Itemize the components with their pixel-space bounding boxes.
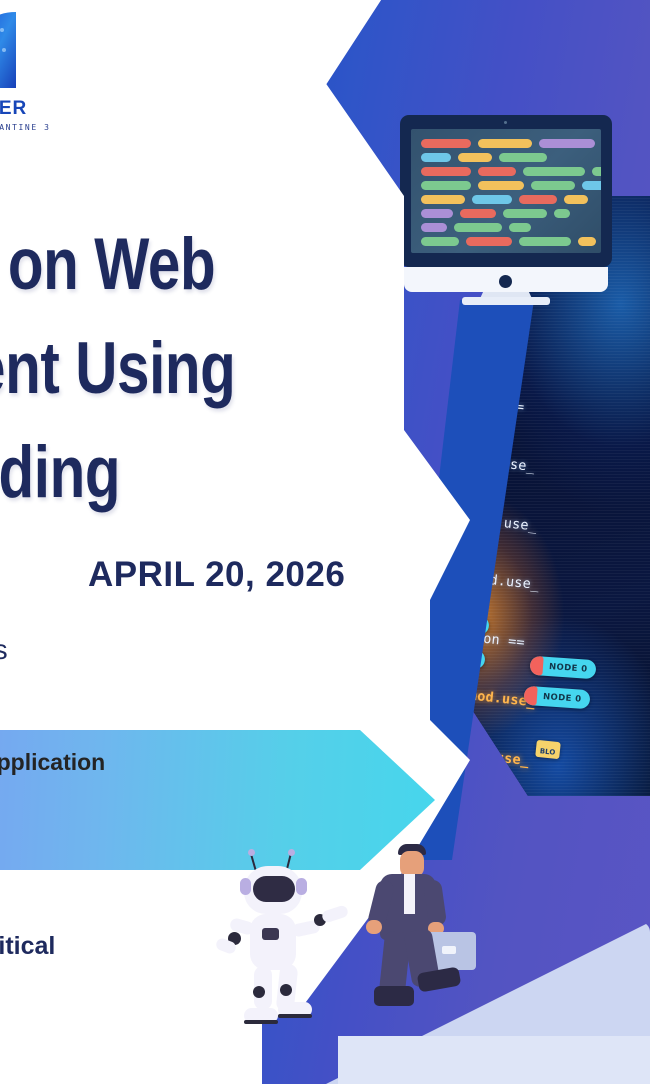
monitor-code-pill xyxy=(503,209,547,218)
poster-canvas: od.use_ mod.use_ _mod.use ration == or_m… xyxy=(0,0,650,1084)
robot-businessman-illustration xyxy=(210,840,650,1084)
profile-head-ai-icon xyxy=(0,8,36,92)
monitor-code-pill xyxy=(519,195,557,204)
businessman-figure xyxy=(360,844,510,1024)
monitor-code-pill xyxy=(499,153,547,162)
monitor-code-pill xyxy=(578,237,596,246)
monitor-code-pill xyxy=(478,167,516,176)
monitor-code-pill xyxy=(460,209,496,218)
monitor-code-pill xyxy=(523,167,585,176)
robot-ear-left xyxy=(240,878,251,895)
monitor-code-pill xyxy=(478,139,532,148)
robot-arm-right-lower xyxy=(321,904,349,923)
robot-antenna-tip-left xyxy=(248,849,255,856)
robot-chest-badge xyxy=(262,928,279,940)
robot-knee-right xyxy=(280,984,292,996)
monitor-code-pill xyxy=(421,209,453,218)
monitor-code-pill xyxy=(421,139,471,148)
ramp-shadow-shape xyxy=(338,1036,650,1084)
headline-line-3: ...Coding xyxy=(0,421,322,525)
monitor-code-pill xyxy=(539,139,595,148)
monitor-code-pill xyxy=(582,181,601,190)
robot-ear-right xyxy=(296,878,307,895)
man-shirt-front xyxy=(404,874,415,914)
monitor-code-pill xyxy=(458,153,492,162)
monitor-camera-dot xyxy=(504,121,507,124)
monitor-code-pill xyxy=(466,237,512,246)
headline-line-2: ...ment Using xyxy=(0,317,322,421)
monitor-code-pill xyxy=(421,195,465,204)
robot-sole-right xyxy=(278,1014,312,1018)
monitor-base xyxy=(462,297,550,305)
monitor-code-pill xyxy=(519,237,571,246)
briefcase-latch xyxy=(442,946,456,954)
monitor-screen xyxy=(411,129,601,253)
man-shoe-left xyxy=(374,986,414,1006)
monitor-code-pill xyxy=(472,195,512,204)
monitor-code-pill xyxy=(554,209,570,218)
robot-antenna-tip-right xyxy=(288,849,295,856)
logo-wordmark: ...ER xyxy=(0,98,82,120)
event-date: APRIL 20, 2026 xyxy=(88,555,345,595)
amber-chip-label: BLO xyxy=(535,744,560,760)
monitor-code-pill xyxy=(564,195,588,204)
robot-face-visor xyxy=(253,876,295,902)
monitor-code-pill xyxy=(478,181,524,190)
monitor-code-pill xyxy=(421,223,447,232)
monitor-code-pill xyxy=(421,167,471,176)
monitor-code-pill xyxy=(421,237,459,246)
amber-chip: BLO xyxy=(535,740,560,759)
banner-line-2: ...I Tools xyxy=(0,782,435,820)
poster-headline: ...op on Web ...ment Using ...Coding xyxy=(0,213,322,525)
robot-torso xyxy=(250,914,296,970)
man-hand-left xyxy=(366,920,382,934)
node-chip-label: NODE 0 xyxy=(537,691,591,705)
headline-line-1: ...op on Web xyxy=(0,213,322,317)
monitor-code-pill xyxy=(509,223,531,232)
monitor-code-pill xyxy=(454,223,502,232)
organization-logo[interactable]: ...ER ...ANTINE 3 xyxy=(0,8,82,132)
logo-subtitle: ...ANTINE 3 xyxy=(0,123,82,132)
footer-organizer: ...lty of Political xyxy=(0,932,55,961)
robot-knee-left xyxy=(253,986,265,998)
node-chip-label: NODE 0 xyxy=(543,661,597,675)
audience-line: ...olders xyxy=(0,634,8,666)
banner-line-1: ...Create a Web Application xyxy=(0,744,435,782)
robot-figure xyxy=(226,852,356,1042)
monitor-logo-dot xyxy=(499,275,512,288)
desktop-computer-illustration xyxy=(400,115,612,305)
monitor-code-pill xyxy=(592,167,601,176)
monitor-code-pill xyxy=(421,153,451,162)
monitor-code-pill xyxy=(421,181,471,190)
robot-sole-left xyxy=(244,1020,278,1024)
monitor-code-pill xyxy=(531,181,575,190)
